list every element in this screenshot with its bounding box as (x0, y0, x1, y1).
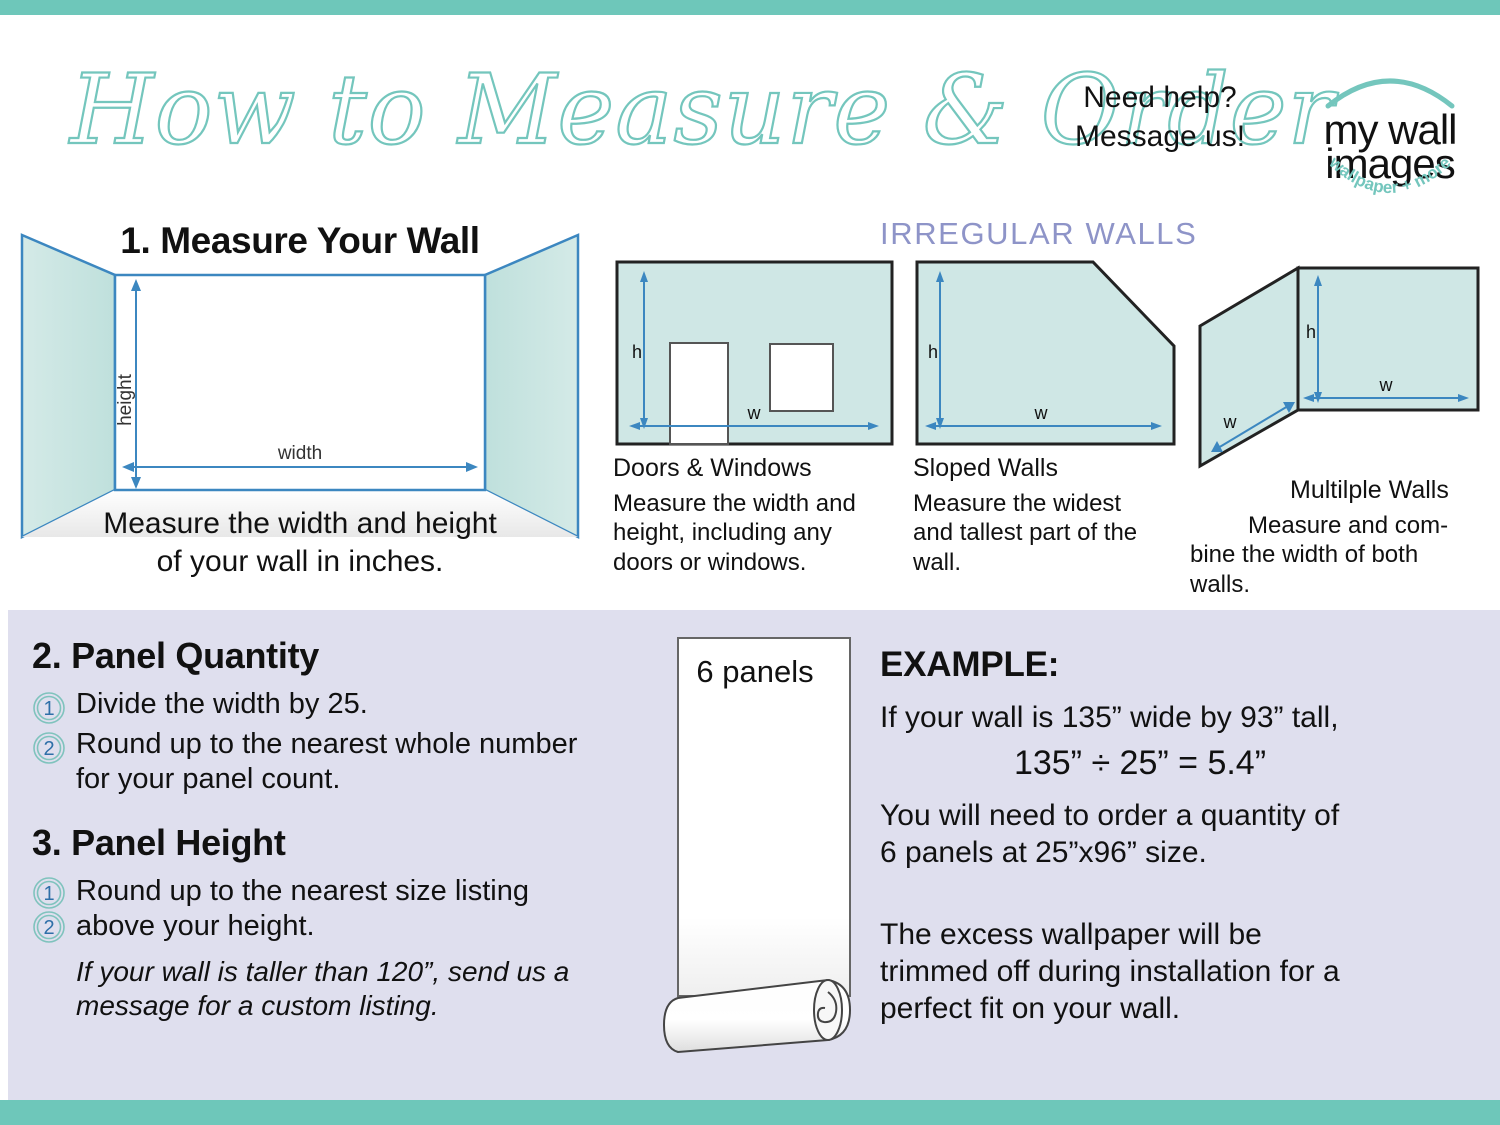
desc-line-2: height, including any (613, 519, 832, 546)
height-label: height (115, 373, 136, 425)
marker-circle-icon: 1 (32, 876, 66, 910)
irregular-walls-title: IRREGULAR WALLS (880, 216, 1200, 252)
measure-wall-section: height width 1. Measure Your Wall Measur… (0, 215, 600, 595)
spacer (32, 800, 592, 822)
irregular-item-multiple-walls: h w w Multilple Walls Measure and com- b… (1190, 258, 1490, 599)
example-line-3: 6 panels at 25”x96” size. (880, 834, 1480, 871)
h-label: h (1306, 322, 1316, 342)
steps-column: 2. Panel Quantity 1 Divide the width by … (32, 635, 592, 1024)
desc-line-1: Measure the width and (613, 490, 856, 517)
door-shape (670, 343, 728, 444)
marker-circle-icon: 2 (32, 910, 66, 944)
need-help-block: Need help? Message us! (1045, 78, 1275, 156)
example-column: EXAMPLE: If your wall is 135” wide by 93… (880, 645, 1480, 1027)
bullet-text: Divide the width by 25. (76, 687, 368, 722)
example-line-1: If your wall is 135” wide by 93” tall, (880, 699, 1480, 736)
step3-heading: 3. Panel Height (32, 822, 592, 864)
page-title: How to Measure & Order (70, 55, 1020, 175)
top-accent-bar (0, 0, 1500, 15)
marker-circle-icon: 2 (32, 731, 66, 765)
step3-markers: 1 2 (32, 874, 66, 942)
w2-label: w (1223, 412, 1238, 432)
w-label: w (1379, 375, 1394, 395)
item-name: Sloped Walls (913, 454, 1183, 483)
spacer (880, 872, 1480, 916)
item-description: Measure and com- bine the width of both … (1248, 511, 1490, 599)
bottom-accent-bar (0, 1100, 1500, 1125)
sloped-wall-diagram: h w (913, 258, 1178, 448)
marker-number: 1 (43, 883, 54, 905)
section1-caption: Measure the width and height of your wal… (20, 505, 580, 582)
bullet-text: Round up to the nearest whole number for… (76, 727, 592, 798)
w-label: w (1034, 403, 1049, 423)
item-description: Measure the widest and tallest part of t… (913, 489, 1183, 577)
step2-bullet-2: 2 Round up to the nearest whole number f… (32, 727, 592, 798)
need-help-line-1: Need help? (1045, 78, 1275, 117)
desc-line-1: Measure and com- (1248, 512, 1448, 539)
desc-line-2: and tallest part of the (913, 519, 1137, 546)
item-description: Measure the width and height, including … (613, 489, 898, 577)
width-label: width (277, 443, 322, 464)
h-label: h (632, 342, 642, 362)
marker-number: 2 (43, 738, 54, 760)
step3-text: Round up to the nearest size listing abo… (76, 874, 592, 945)
step3-bullet-group: 1 2 Round up to the nearest size listing… (32, 874, 592, 945)
item-name: Doors & Windows (613, 454, 898, 483)
desc-line-2: bine the width of both (1190, 540, 1490, 569)
section1-caption-line-2: of your wall in inches. (20, 543, 580, 581)
step3-note: If your wall is taller than 120”, send u… (76, 955, 592, 1024)
h-label: h (928, 342, 938, 362)
infographic-page: How to Measure & Order Need help? Messag… (0, 0, 1500, 1125)
window-shape (770, 344, 833, 411)
marker-number: 1 (43, 698, 54, 720)
desc-line-3: wall. (913, 549, 961, 576)
wallpaper-roll-illustration: 6 panels (660, 632, 880, 1082)
side-wall-shape (1200, 268, 1298, 466)
panel-sheet (678, 638, 850, 996)
section1-heading: 1. Measure Your Wall (0, 220, 600, 262)
example-heading: EXAMPLE: (880, 645, 1480, 685)
wall-diagram: height width (0, 215, 600, 545)
doors-windows-diagram: h w (613, 258, 896, 448)
logo-arc-icon (1328, 81, 1452, 106)
example-closing-line-2: trimmed off during installation for a (880, 953, 1480, 990)
example-equation: 135” ÷ 25” = 5.4” (880, 744, 1480, 783)
step2-heading: 2. Panel Quantity (32, 635, 592, 677)
brand-logo: my wall images wallpaper + more (1300, 48, 1480, 198)
roll-label: 6 panels (660, 654, 850, 690)
left-side-wall (22, 235, 115, 537)
irregular-item-sloped-walls: h w Sloped Walls Measure the widest and … (913, 258, 1183, 577)
need-help-line-2: Message us! (1045, 117, 1275, 156)
marker-number: 2 (43, 917, 54, 939)
step2-bullet-1: 1 Divide the width by 25. (32, 687, 592, 725)
irregular-item-doors-windows: h w Doors & Windows Measure the width an… (613, 258, 898, 577)
marker-circle-icon: 1 (32, 691, 66, 725)
item-name: Multilple Walls (1290, 476, 1490, 505)
desc-line-3: walls. (1190, 570, 1490, 599)
example-line-2: You will need to order a quantity of (880, 797, 1480, 834)
section1-caption-line-1: Measure the width and height (20, 505, 580, 543)
example-closing-line-1: The excess wallpaper will be (880, 916, 1480, 953)
desc-line-3: doors or windows. (613, 549, 806, 576)
w-label: w (747, 403, 762, 423)
right-side-wall (485, 235, 578, 537)
example-closing-line-3: perfect fit on your wall. (880, 990, 1480, 1027)
desc-line-1: Measure the widest (913, 490, 1121, 517)
multiple-walls-diagram: h w w (1190, 258, 1490, 470)
